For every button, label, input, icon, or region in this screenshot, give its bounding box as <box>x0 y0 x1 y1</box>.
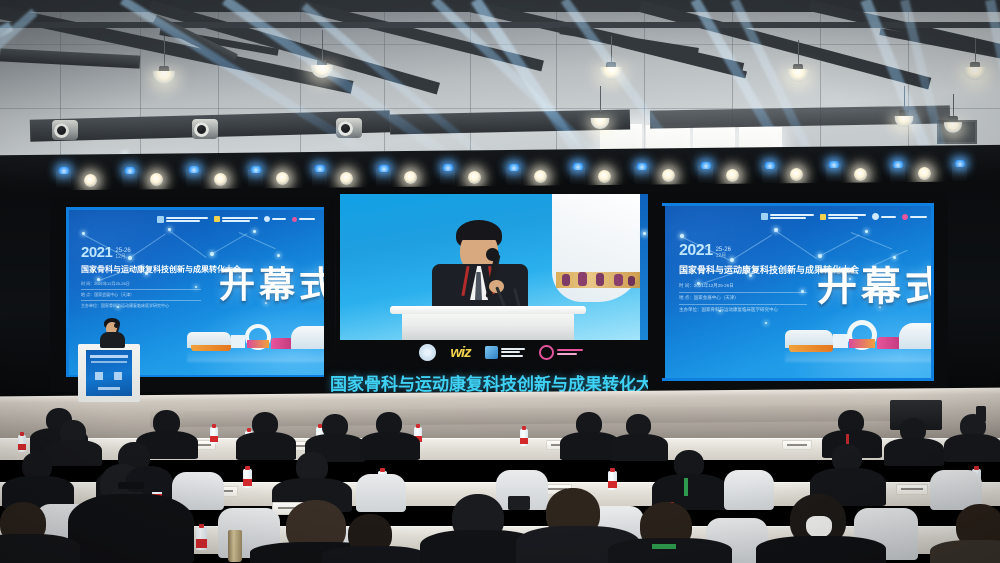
water-bottle <box>18 432 26 452</box>
audience-area <box>0 404 1000 563</box>
water-bottle <box>210 424 218 444</box>
right-screen-edge-bottom <box>662 378 934 381</box>
pink-o-logo-icon <box>539 345 583 360</box>
water-bottle <box>196 524 207 550</box>
left-screen-logo-strip <box>157 215 315 223</box>
city-skyline-graphic <box>187 316 324 360</box>
par-light-icon <box>662 169 675 182</box>
conference-title-small: 国家骨科与运动康复科技创新与成果转化大会 <box>81 264 241 275</box>
pendant-lamp-icon <box>964 67 986 80</box>
sponsor-logo-bar: wiz <box>336 340 666 364</box>
year-label: 2021 <box>679 242 713 260</box>
water-bottle <box>520 426 528 446</box>
year-label: 2021 <box>81 244 112 261</box>
par-light-icon <box>534 170 547 183</box>
nameplate <box>782 440 812 450</box>
par-light-icon <box>84 174 97 187</box>
session-label-right: 开幕式 <box>817 254 931 312</box>
city-skyline-graphic <box>785 314 931 362</box>
moving-head-light-icon <box>698 165 713 183</box>
par-light-icon <box>150 173 163 186</box>
nameplate <box>896 484 928 495</box>
date-month: 12月 <box>115 255 130 260</box>
par-light-icon <box>854 168 867 181</box>
moving-head-light-icon <box>440 167 455 185</box>
moving-head-light-icon <box>312 168 327 186</box>
par-light-icon <box>598 170 611 183</box>
moving-head-light-icon <box>570 166 585 184</box>
par-light-icon <box>468 171 481 184</box>
right-led-panel[interactable]: 2021 25-26 12月 国家骨科与运动康复科技创新与成果转化大会 时 间：… <box>665 206 931 378</box>
moving-head-light-icon <box>890 164 905 182</box>
ring-logo-icon <box>419 344 436 361</box>
par-light-icon <box>790 168 803 181</box>
lectern-branding-panel <box>86 350 132 396</box>
par-light-icon <box>214 173 227 186</box>
follow-spot-icon <box>192 119 218 139</box>
moving-head-light-icon <box>186 169 201 187</box>
moving-head-light-icon <box>248 169 263 187</box>
follow-spot-icon <box>52 120 78 140</box>
meta-line-place: 地 点：国家会展中心（天津） <box>81 292 241 298</box>
pendant-lamp-icon <box>895 116 914 127</box>
moving-head-light-icon <box>376 168 391 186</box>
follow-spot-icon <box>336 118 362 138</box>
meta-line-host: 主办单位：国家骨科与运动康复临床医学研究中心 <box>81 303 241 309</box>
right-screen-logo-strip <box>761 212 927 221</box>
session-label-left: 开幕式 <box>219 256 324 308</box>
moving-head-light-icon <box>506 167 521 185</box>
right-screen-edge-right <box>931 203 934 381</box>
moving-head-light-icon <box>122 170 137 188</box>
chair <box>724 470 774 510</box>
par-light-icon <box>276 172 289 185</box>
chair <box>356 474 406 512</box>
pendant-lamp-icon <box>153 71 175 84</box>
par-light-icon <box>404 171 417 184</box>
moving-head-light-icon <box>56 170 71 188</box>
pendant-lamp-icon <box>600 67 622 80</box>
left-screen-info-block: 2021 25-26 12月 国家骨科与运动康复科技创新与成果转化大会 时 间：… <box>81 244 241 309</box>
date-month: 12月 <box>716 254 731 259</box>
par-light-icon <box>340 172 353 185</box>
conference-hall-photo: 2021 25-26 12月 国家骨科与运动康复科技创新与成果转化大会 时 间：… <box>0 0 1000 563</box>
center-live-feed[interactable] <box>340 194 662 340</box>
pendant-lamp-icon <box>787 69 809 82</box>
par-light-icon <box>726 169 739 182</box>
par-light-icon <box>918 167 931 180</box>
water-bottle <box>243 466 252 488</box>
moving-head-light-icon <box>826 164 841 182</box>
thermos-tumbler <box>228 530 242 562</box>
blue-box-logo-icon <box>485 346 525 359</box>
moving-head-light-icon <box>634 166 649 184</box>
wiz-logo: wiz <box>450 344 470 361</box>
moving-head-light-icon <box>952 163 967 181</box>
water-bottle <box>608 468 617 490</box>
meta-line-time: 时 间：2021年12月25-26日 <box>81 281 241 287</box>
moving-head-light-icon <box>762 165 777 183</box>
